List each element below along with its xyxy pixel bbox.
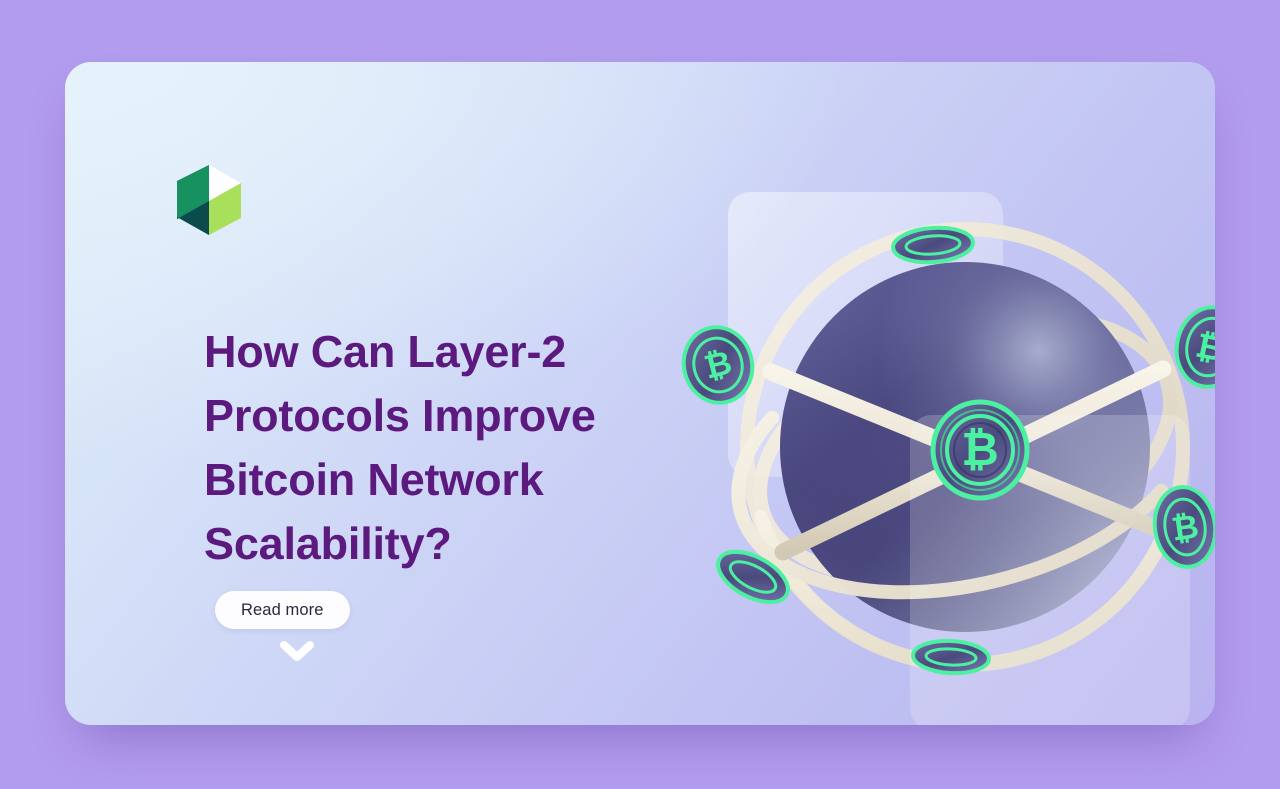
coin-node-center: ₿ xyxy=(933,402,1027,498)
page-root: ₿ ₿ ₿ xyxy=(0,0,1280,789)
hexagon-cube-logo-icon xyxy=(172,161,246,237)
bitcoin-symbol: ₿ xyxy=(961,422,999,476)
hero-headline: How Can Layer-2 Protocols Improve Bitcoi… xyxy=(204,320,724,576)
brand-logo[interactable] xyxy=(172,161,246,237)
svg-text:₿: ₿ xyxy=(1169,506,1201,548)
chevron-down-icon xyxy=(275,637,319,665)
illustration-bitcoin-network-sphere: ₿ ₿ ₿ xyxy=(665,157,1215,725)
read-more-button[interactable]: Read more xyxy=(215,591,350,629)
scroll-down-chevron[interactable] xyxy=(275,637,319,665)
hero-card: ₿ ₿ ₿ xyxy=(65,62,1215,725)
